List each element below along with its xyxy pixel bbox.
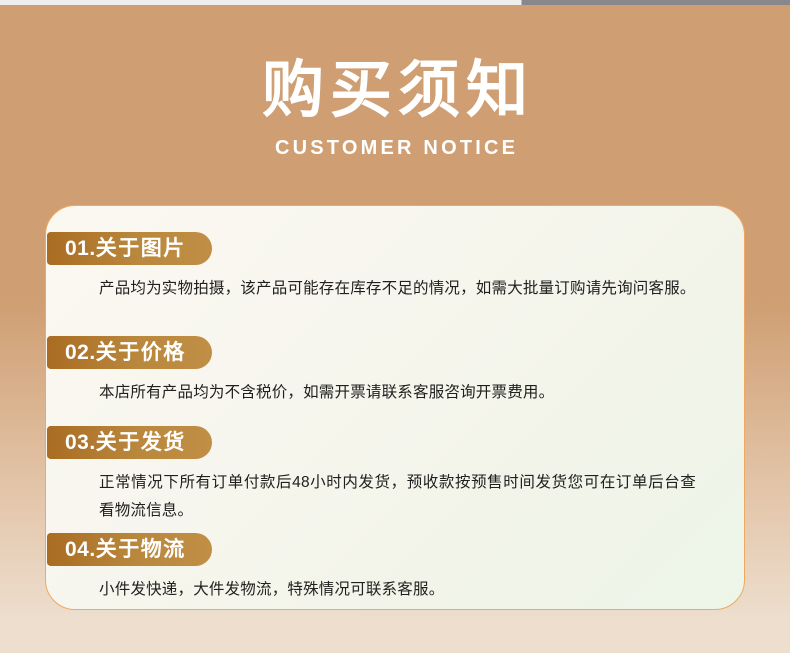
section-body-1: 产品均为实物拍摄，该产品可能存在库存不足的情况，如需大批量订购请先询问客服。	[99, 275, 744, 303]
section-number-2: 02.	[65, 341, 96, 364]
section-body-3: 正常情况下所有订单付款后48小时内发货，预收款按预售时间发货您可在订单后台查看物…	[99, 469, 744, 525]
section-badge-1: 01.关于图片	[47, 232, 212, 265]
page-header: 购买须知 CUSTOMER NOTICE	[0, 52, 790, 160]
page-subtitle: CUSTOMER NOTICE	[0, 136, 790, 160]
section-badge-2: 02.关于价格	[47, 336, 212, 369]
section-badge-3: 03.关于发货	[47, 426, 212, 459]
section-number-3: 03.	[65, 431, 96, 454]
section-number-4: 04.	[65, 538, 96, 561]
section-body-4: 小件发快递，大件发物流，特殊情况可联系客服。	[99, 576, 744, 604]
notice-section-3: 03.关于发货 正常情况下所有订单付款后48小时内发货，预收款按预售时间发货您可…	[46, 426, 744, 525]
section-heading-4: 关于物流	[96, 538, 186, 561]
top-edge-strip	[0, 0, 790, 5]
section-number-1: 01.	[65, 237, 96, 260]
section-heading-1: 关于图片	[96, 237, 186, 260]
page-title: 购买须知	[0, 52, 790, 130]
notice-section-1: 01.关于图片 产品均为实物拍摄，该产品可能存在库存不足的情况，如需大批量订购请…	[46, 232, 744, 303]
section-heading-3: 关于发货	[96, 431, 186, 454]
notice-section-2: 02.关于价格 本店所有产品均为不含税价，如需开票请联系客服咨询开票费用。	[46, 336, 744, 407]
customer-notice-page: 购买须知 CUSTOMER NOTICE 01.关于图片 产品均为实物拍摄，该产…	[0, 0, 790, 653]
notice-card: 01.关于图片 产品均为实物拍摄，该产品可能存在库存不足的情况，如需大批量订购请…	[45, 205, 745, 610]
notice-section-4: 04.关于物流 小件发快递，大件发物流，特殊情况可联系客服。	[46, 533, 744, 604]
section-heading-2: 关于价格	[96, 341, 186, 364]
section-badge-4: 04.关于物流	[47, 533, 212, 566]
section-body-2: 本店所有产品均为不含税价，如需开票请联系客服咨询开票费用。	[99, 379, 744, 407]
